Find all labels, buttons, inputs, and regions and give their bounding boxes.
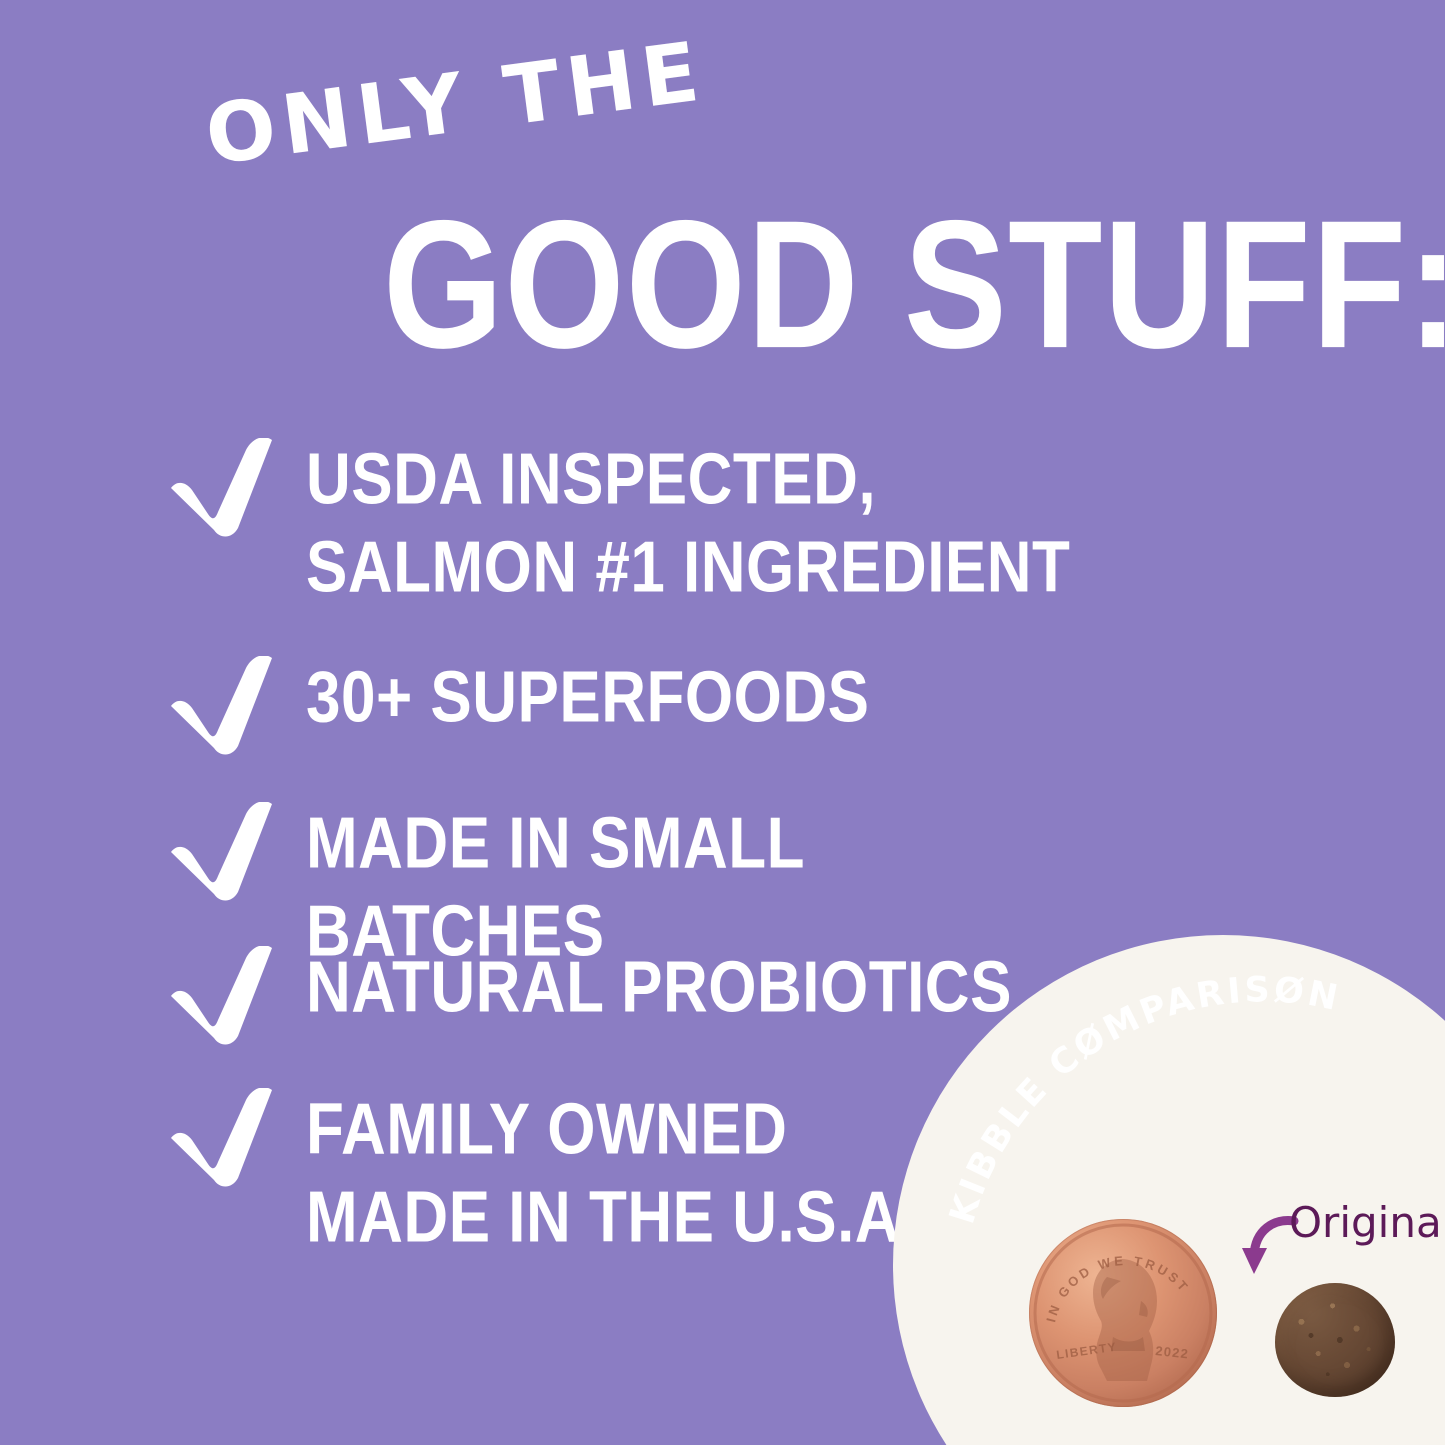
checkmark-icon [168, 1088, 286, 1188]
headline-line-one: ONLY THE [201, 31, 710, 178]
list-item: MADE IN SMALL BATCHES [168, 796, 1100, 952]
kibble-original-label: Original [1289, 1202, 1445, 1244]
list-item: FAMILY OWNED MADE IN THE U.S.A [168, 1082, 900, 1238]
list-item: NATURAL PROBIOTICS [168, 940, 1012, 1046]
list-item-label: NATURAL PROBIOTICS [306, 944, 1012, 1032]
promo-poster: ONLY THE GOOD STUFF: USDA INSPECTED, SAL… [0, 0, 1445, 1445]
kibble-piece-icon [1275, 1283, 1395, 1397]
checkmark-icon [168, 946, 286, 1046]
headline-block: ONLY THE GOOD STUFF: [0, 88, 1445, 358]
checkmark-icon [168, 656, 286, 756]
list-item: USDA INSPECTED, SALMON #1 INGREDIENT [168, 432, 1070, 588]
page-title: GOOD STUFF: [383, 194, 1445, 376]
list-item: 30+ SUPERFOODS [168, 650, 869, 756]
checkmark-icon [168, 438, 286, 538]
list-item-label: USDA INSPECTED, SALMON #1 INGREDIENT [306, 436, 1070, 612]
list-item-label: FAMILY OWNED MADE IN THE U.S.A [306, 1086, 900, 1262]
list-item-label: 30+ SUPERFOODS [306, 654, 869, 742]
checkmark-icon [168, 802, 286, 902]
penny-coin-icon: IN GOD WE TRUST LIBERTY 2022 [1029, 1219, 1217, 1407]
